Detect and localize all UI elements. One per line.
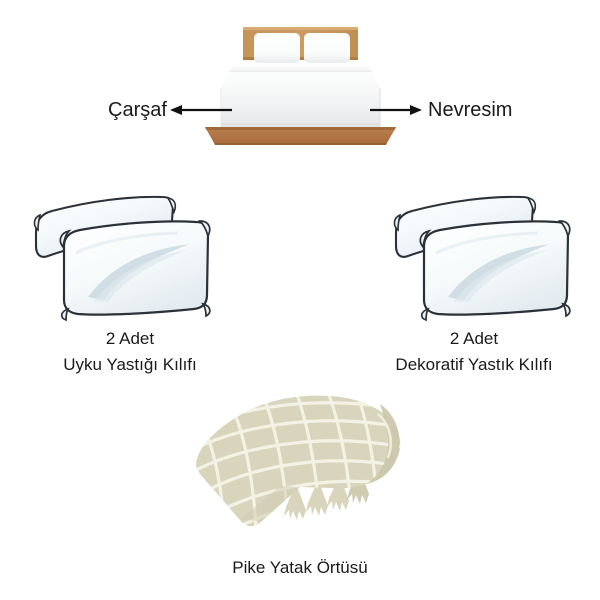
pique-bedspread-name: Pike Yatak Örtüsü xyxy=(170,558,430,578)
sleeping-pillowcases-name: Uyku Yastığı Kılıfı xyxy=(0,355,260,375)
bed-label-left-carsaf: Çarşaf xyxy=(108,99,167,122)
decorative-pillowcases-count: 2 Adet xyxy=(344,329,600,349)
bed-label-right-nevresim: Nevresim xyxy=(428,99,512,122)
bedding-set-infographic: Çarşaf Nevresim 2 Adet Uyku Yastığı Kılı… xyxy=(0,0,600,600)
decorative-pillowcases-name: Dekoratif Yastık Kılıfı xyxy=(344,355,600,375)
sleeping-pillowcases-count: 2 Adet xyxy=(0,329,260,349)
pique-bedspread-illustration xyxy=(0,0,600,600)
